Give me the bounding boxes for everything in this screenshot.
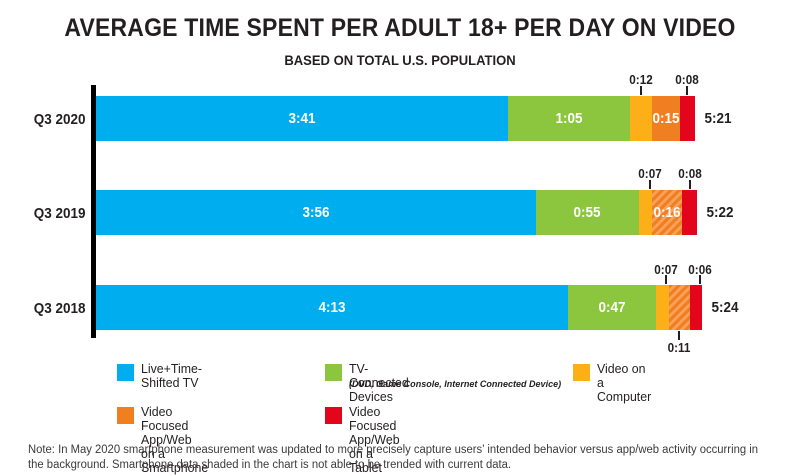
category-label-q3-2020: Q3 2020	[34, 111, 86, 128]
callout-tick	[640, 86, 642, 95]
segment-tablet[interactable]	[682, 190, 697, 235]
chart-title: AVERAGE TIME SPENT PER ADULT 18+ PER DAY…	[32, 14, 768, 43]
segment-computer[interactable]	[656, 285, 669, 330]
segment-tv-devices[interactable]: 1:05	[508, 96, 630, 141]
footnote: Note: In May 2020 smartphone measurement…	[28, 443, 761, 473]
legend-sublabel: (DVD, Game Console, Internet Connected D…	[349, 379, 561, 390]
category-label-q3-2018: Q3 2018	[34, 300, 86, 317]
legend-swatch-icon	[117, 407, 134, 424]
segment-live-tv[interactable]: 3:41	[96, 96, 508, 141]
callout-tick	[678, 331, 680, 340]
legend-swatch-icon	[325, 407, 342, 424]
segment-tv-devices[interactable]: 0:55	[536, 190, 639, 235]
legend-swatch-icon	[117, 364, 134, 381]
legend-label: Video on a Computer	[597, 362, 651, 404]
legend-swatch-icon	[573, 364, 590, 381]
segment-smartphone-shaded[interactable]: 0:16	[652, 190, 682, 235]
row-total-q3-2020: 5:21	[705, 111, 732, 126]
legend-label: Live+Time-Shifted TV	[141, 362, 202, 390]
chart-subtitle: BASED ON TOTAL U.S. POPULATION	[28, 52, 772, 68]
category-label-q3-2019: Q3 2019	[34, 205, 86, 222]
segment-tablet[interactable]	[680, 96, 695, 141]
segment-tv-devices[interactable]: 0:47	[568, 285, 656, 330]
callout-tick	[689, 180, 691, 189]
segment-smartphone[interactable]: 0:15	[652, 96, 680, 141]
segment-live-tv[interactable]: 4:13	[96, 285, 568, 330]
callout-tick	[686, 86, 688, 95]
legend-swatch-icon	[325, 364, 342, 381]
segment-smartphone-shaded[interactable]	[669, 285, 690, 330]
segment-computer[interactable]	[630, 96, 652, 141]
callout-tick	[665, 275, 667, 284]
row-total-q3-2019: 5:22	[707, 205, 734, 220]
segment-tablet[interactable]	[690, 285, 702, 330]
callout-tick	[699, 275, 701, 284]
callout-tick	[649, 180, 651, 189]
row-total-q3-2018: 5:24	[712, 300, 739, 315]
segment-computer[interactable]	[639, 190, 652, 235]
segment-live-tv[interactable]: 3:56	[96, 190, 536, 235]
chart-container: AVERAGE TIME SPENT PER ADULT 18+ PER DAY…	[0, 0, 800, 476]
